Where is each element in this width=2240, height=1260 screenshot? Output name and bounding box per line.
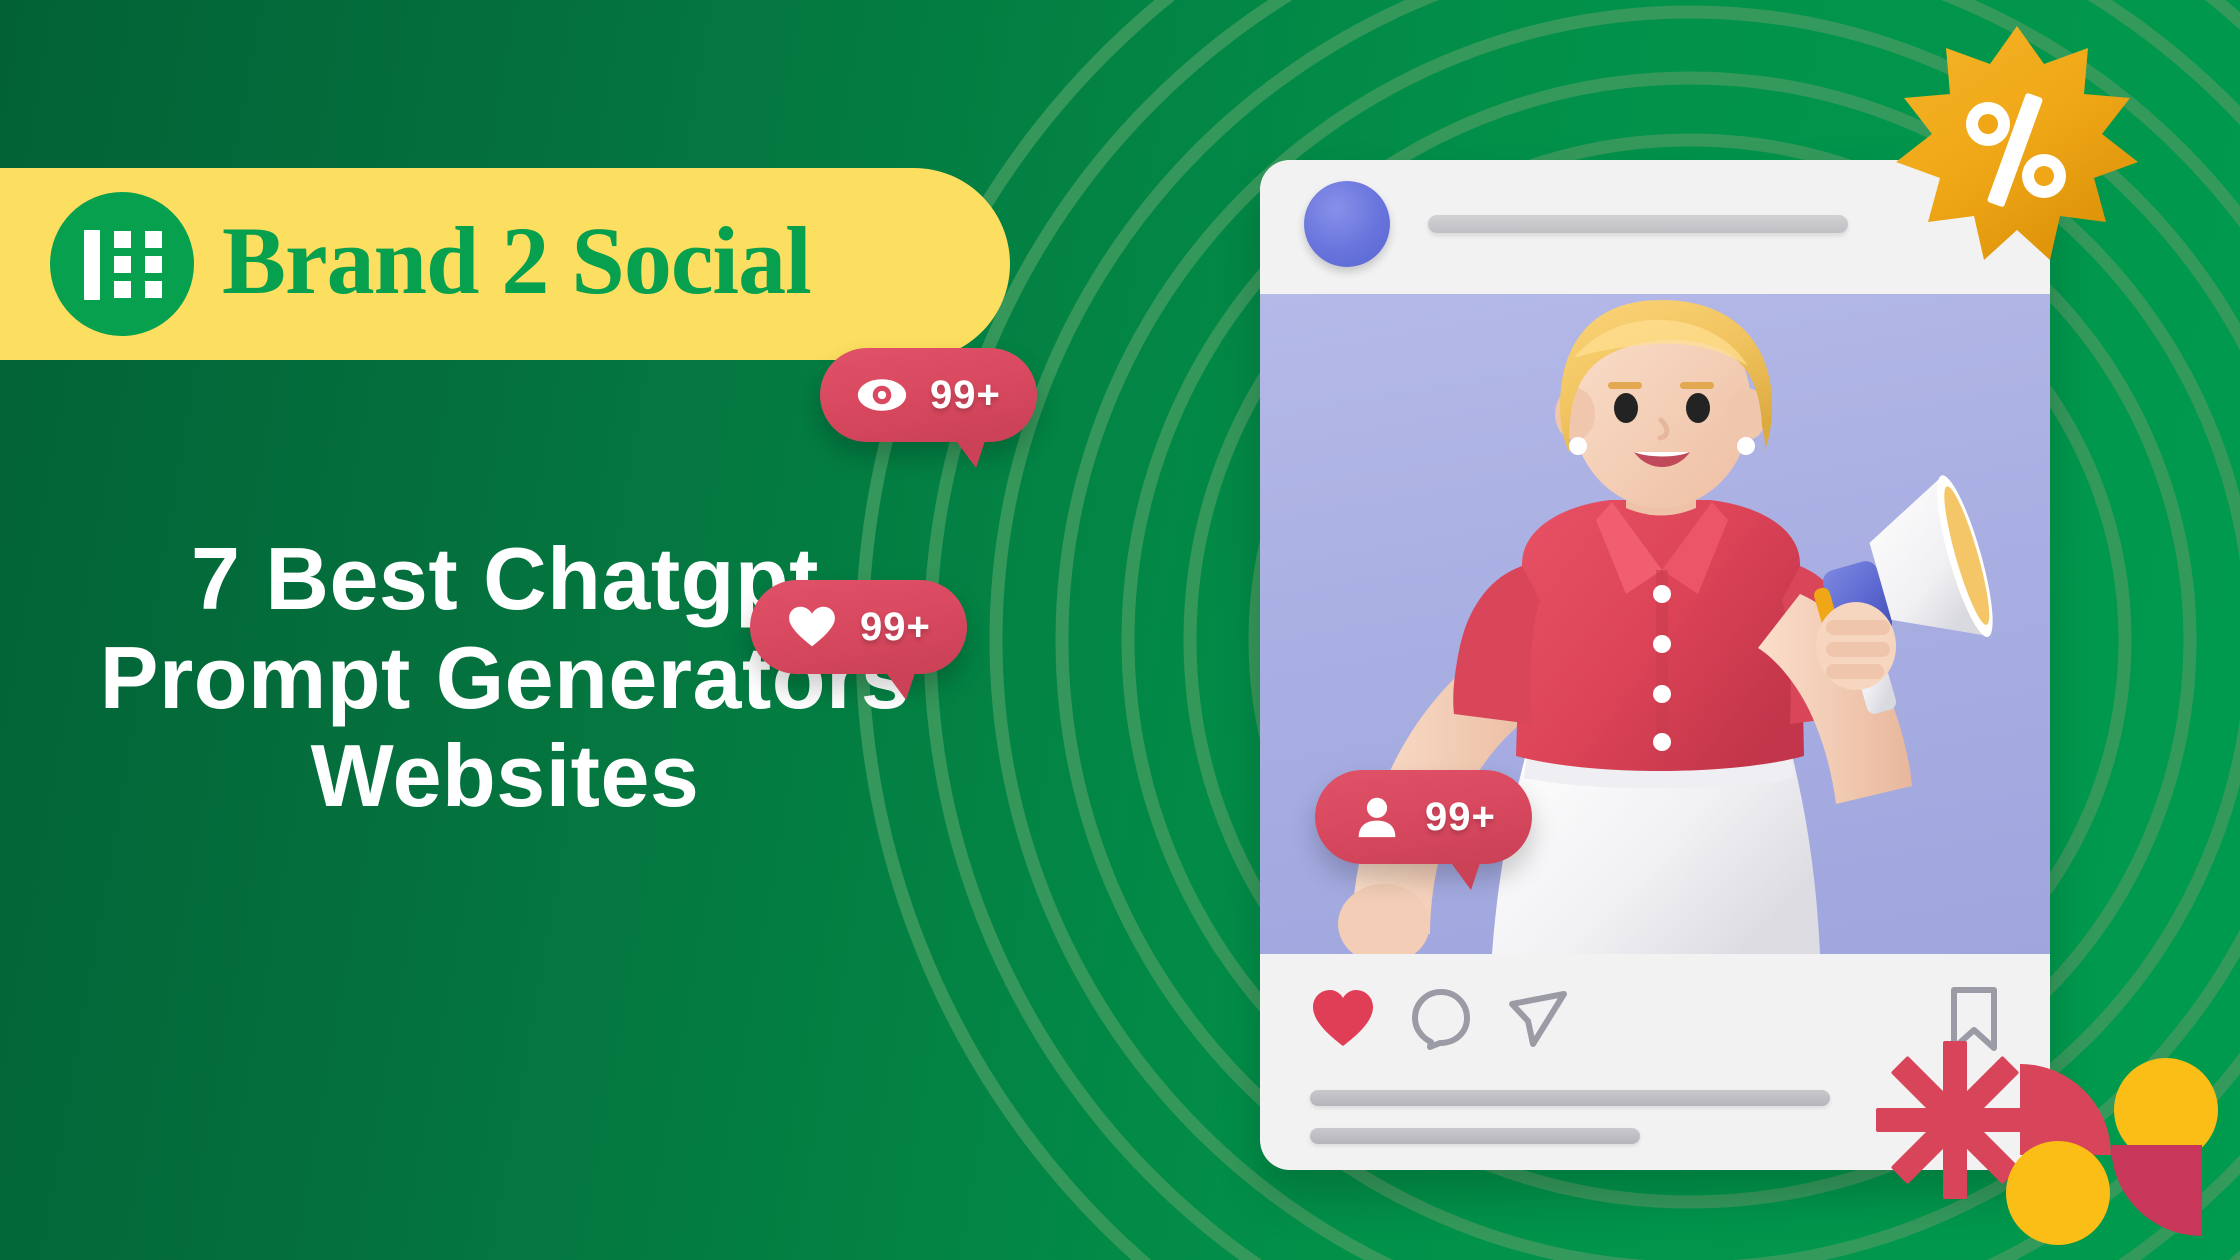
brand-logo-pill[interactable]: Brand 2 Social	[0, 168, 1010, 360]
chip-tail	[1449, 860, 1481, 890]
heart-icon	[786, 605, 838, 649]
bars-and-dots-logo-icon	[50, 192, 194, 336]
logo-dot-shape	[114, 231, 131, 248]
percent-starburst-icon	[1892, 20, 2142, 270]
logo-bar-shape	[84, 230, 100, 300]
views-notification-chip: 99+	[820, 348, 1037, 442]
post-caption-placeholder	[1310, 1090, 1830, 1166]
social-post-card	[1260, 160, 2050, 1170]
headline-line-3: Websites	[0, 727, 1010, 826]
comment-bubble-icon[interactable]	[1410, 988, 1472, 1050]
logo-dot-shape	[114, 281, 131, 298]
caption-line	[1310, 1090, 1830, 1106]
banner-canvas: Brand 2 Social 7 Best Chatgpt Prompt Gen…	[0, 0, 2240, 1260]
username-placeholder-bar	[1428, 215, 1848, 233]
followers-count: 99+	[1425, 795, 1496, 840]
page-title: 7 Best Chatgpt Prompt Generators Website…	[0, 530, 1010, 826]
chip-tail	[954, 438, 986, 468]
logo-dot-shape	[145, 231, 162, 248]
brand-name-text: Brand 2 Social	[222, 213, 811, 315]
followers-notification-chip: 99+	[1315, 770, 1532, 864]
illustration-area: 99+ 99+ 99+	[1040, 0, 2240, 1260]
avatar	[1304, 181, 1390, 267]
likes-count: 99+	[860, 605, 931, 650]
logo-dot-shape	[145, 281, 162, 298]
eye-icon	[856, 373, 908, 417]
chip-tail	[884, 670, 916, 700]
views-count: 99+	[930, 373, 1001, 418]
quad-shape-decoration	[2000, 1050, 2222, 1250]
like-heart-icon[interactable]	[1310, 988, 1376, 1050]
follower-icon	[1351, 795, 1403, 839]
logo-dot-shape	[114, 256, 131, 273]
logo-dot-shape	[145, 256, 162, 273]
caption-line	[1310, 1128, 1640, 1144]
share-paper-plane-icon[interactable]	[1506, 988, 1570, 1050]
likes-notification-chip: 99+	[750, 580, 967, 674]
